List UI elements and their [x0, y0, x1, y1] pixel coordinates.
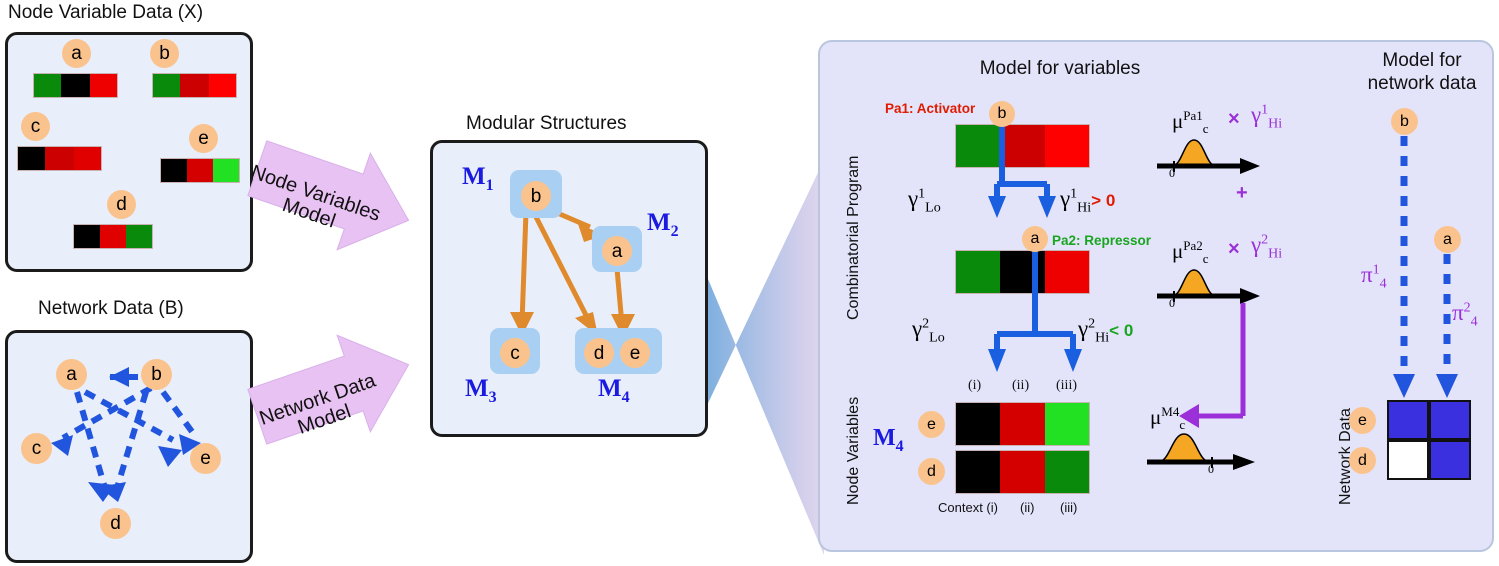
bar-seg [61, 74, 89, 97]
module-node-d[interactable]: d [584, 338, 614, 368]
bar-seg [1000, 403, 1045, 445]
node-label: e [1358, 413, 1367, 429]
node-label: e [927, 417, 936, 433]
node-b[interactable]: b [150, 39, 179, 68]
gamma1-hi-symbol: γ1Hi> 0 [1060, 186, 1115, 217]
times-symbol-pa1: × [1228, 108, 1240, 131]
model-for-variables-title: Model for variables [940, 58, 1180, 81]
profile-bar-a [33, 73, 118, 98]
gamma2-split-connector [955, 236, 1115, 381]
bar-seg [18, 147, 45, 170]
bar-seg [187, 159, 214, 182]
gamma2-hi-symbol: γ2Hi< 0 [1078, 316, 1133, 347]
profile-bar-b [152, 73, 237, 98]
bar-seg [90, 74, 117, 97]
node-label: e [200, 449, 211, 468]
node-label: d [1358, 453, 1367, 469]
node-label: d [594, 344, 605, 363]
modular-structures-title: Modular Structures [466, 113, 627, 135]
zoom-wedge [700, 160, 825, 560]
module-node-b[interactable]: b [521, 181, 551, 211]
bar-seg [34, 74, 61, 97]
purple-gamma1-hi: γ1Hi [1251, 102, 1282, 133]
module-label-m1: M1 [462, 163, 494, 195]
module-label-m4: M4 [598, 375, 630, 407]
times-symbol-pa2: × [1228, 238, 1240, 261]
combinatorial-program-label: Combinatorial Program [845, 155, 863, 320]
gamma1-condition: > 0 [1091, 191, 1115, 210]
node-variable-data-title: Node Variable Data (X) [8, 2, 203, 24]
pa2-node-a[interactable]: a [1022, 226, 1048, 252]
bar-seg [956, 451, 1000, 493]
node-label: b [159, 44, 170, 63]
node-label: a [66, 365, 77, 384]
profile-bar-e [160, 158, 240, 183]
arrowhead [1393, 374, 1415, 398]
node-label: b [151, 365, 162, 384]
bar-seg [180, 74, 208, 97]
pa1-node-b[interactable]: b [989, 101, 1015, 127]
bar-seg [74, 147, 101, 170]
arrowhead [988, 349, 1006, 372]
node-label: a [1443, 232, 1452, 248]
context-header-i: (i) [968, 378, 981, 394]
arrowhead [109, 367, 129, 387]
node-label: c [32, 439, 42, 458]
arrowhead [51, 435, 73, 456]
node-label: a [612, 242, 623, 261]
node-e[interactable]: e [189, 124, 218, 153]
network-matrix-cell [1387, 400, 1429, 440]
output-node-d[interactable]: d [918, 458, 945, 485]
mu-m4-distribution [1142, 428, 1257, 474]
context-footer-iii: (iii) [1060, 500, 1077, 515]
output-bar-d [955, 450, 1090, 494]
node-a[interactable]: a [62, 39, 91, 68]
node-label: b [1400, 114, 1409, 130]
netmodel-node-b[interactable]: b [1391, 108, 1418, 135]
bar-seg [126, 225, 152, 248]
profile-bar-d [73, 224, 153, 249]
bar-seg [45, 147, 73, 170]
axis-zero-label-m4: 0 [1208, 462, 1214, 477]
node-label: b [998, 106, 1007, 122]
node-label: c [31, 117, 41, 136]
network-node-c[interactable]: c [21, 433, 52, 464]
bar-seg [1045, 403, 1089, 445]
module-node-c[interactable]: c [500, 338, 530, 368]
node-label: a [1031, 231, 1040, 247]
bar-seg [209, 74, 236, 97]
bar-seg [161, 159, 187, 182]
network-node-a[interactable]: a [56, 359, 87, 390]
bar-seg [74, 225, 100, 248]
network-matrix-cell [1429, 440, 1471, 480]
netmodel-row-label-e[interactable]: e [1349, 407, 1376, 434]
context-footer-i: Context (i) [938, 500, 998, 515]
purple-summary-arrow [1175, 298, 1285, 428]
bar-seg [100, 225, 127, 248]
output-bar-e [955, 402, 1090, 446]
node-c[interactable]: c [21, 112, 50, 141]
context-header-ii: (ii) [1012, 378, 1029, 394]
node-label: e [198, 129, 209, 148]
bar-seg [1000, 451, 1045, 493]
arrowhead [1436, 374, 1458, 398]
network-data-model-arrow: Network Data Model [247, 332, 417, 450]
network-node-b[interactable]: b [141, 359, 172, 390]
node-label: e [630, 344, 641, 363]
arrowhead [1064, 349, 1082, 372]
module-label-m3: M3 [465, 375, 497, 407]
node-label: a [71, 44, 82, 63]
netmodel-node-a[interactable]: a [1434, 226, 1461, 253]
node-label: d [116, 195, 127, 214]
network-matrix-cell [1387, 440, 1429, 480]
plus-symbol: + [1236, 182, 1248, 205]
node-label: c [510, 344, 520, 363]
output-module-label-m4: M4 [873, 425, 904, 456]
pi2-symbol: π24 [1452, 300, 1478, 331]
network-node-d[interactable]: d [100, 508, 131, 539]
network-data-title: Network Data (B) [38, 298, 184, 320]
node-label: d [927, 464, 936, 480]
context-footer-ii: (ii) [1020, 500, 1034, 515]
network-matrix-cell [1429, 400, 1471, 440]
network-node-e[interactable]: e [190, 443, 221, 474]
module-node-a[interactable]: a [602, 236, 632, 266]
output-node-e[interactable]: e [918, 411, 945, 438]
arrowhead [158, 446, 182, 467]
netmodel-dashed-arrows [1380, 130, 1490, 400]
bar-seg [1045, 451, 1089, 493]
node-variables-label: Node Variables [845, 397, 863, 505]
axis-zero-label-pa1: 0 [1169, 166, 1175, 181]
arrowhead [1038, 196, 1056, 218]
netmodel-row-label-d[interactable]: d [1349, 447, 1376, 474]
node-d[interactable]: d [107, 190, 136, 219]
profile-bar-c [17, 146, 102, 171]
bar-seg [153, 74, 180, 97]
model-for-network-data-title: Model for network data [1352, 50, 1492, 96]
gamma2-lo-symbol: γ2Lo [912, 316, 945, 347]
module-label-m2: M2 [647, 209, 679, 241]
bar-seg [956, 403, 1000, 445]
arrowhead [988, 196, 1006, 218]
purple-gamma2-hi: γ2Hi [1251, 232, 1282, 263]
gamma1-lo-symbol: γ1Lo [908, 186, 941, 217]
node-label: d [110, 514, 121, 533]
pi1-symbol: π14 [1361, 262, 1387, 293]
gamma2-condition: < 0 [1109, 321, 1133, 340]
node-variables-model-arrow: Node Variables Model [247, 135, 417, 253]
bar-seg [213, 159, 239, 182]
module-node-e[interactable]: e [620, 338, 650, 368]
node-label: b [531, 187, 542, 206]
context-header-iii: (iii) [1056, 378, 1077, 394]
